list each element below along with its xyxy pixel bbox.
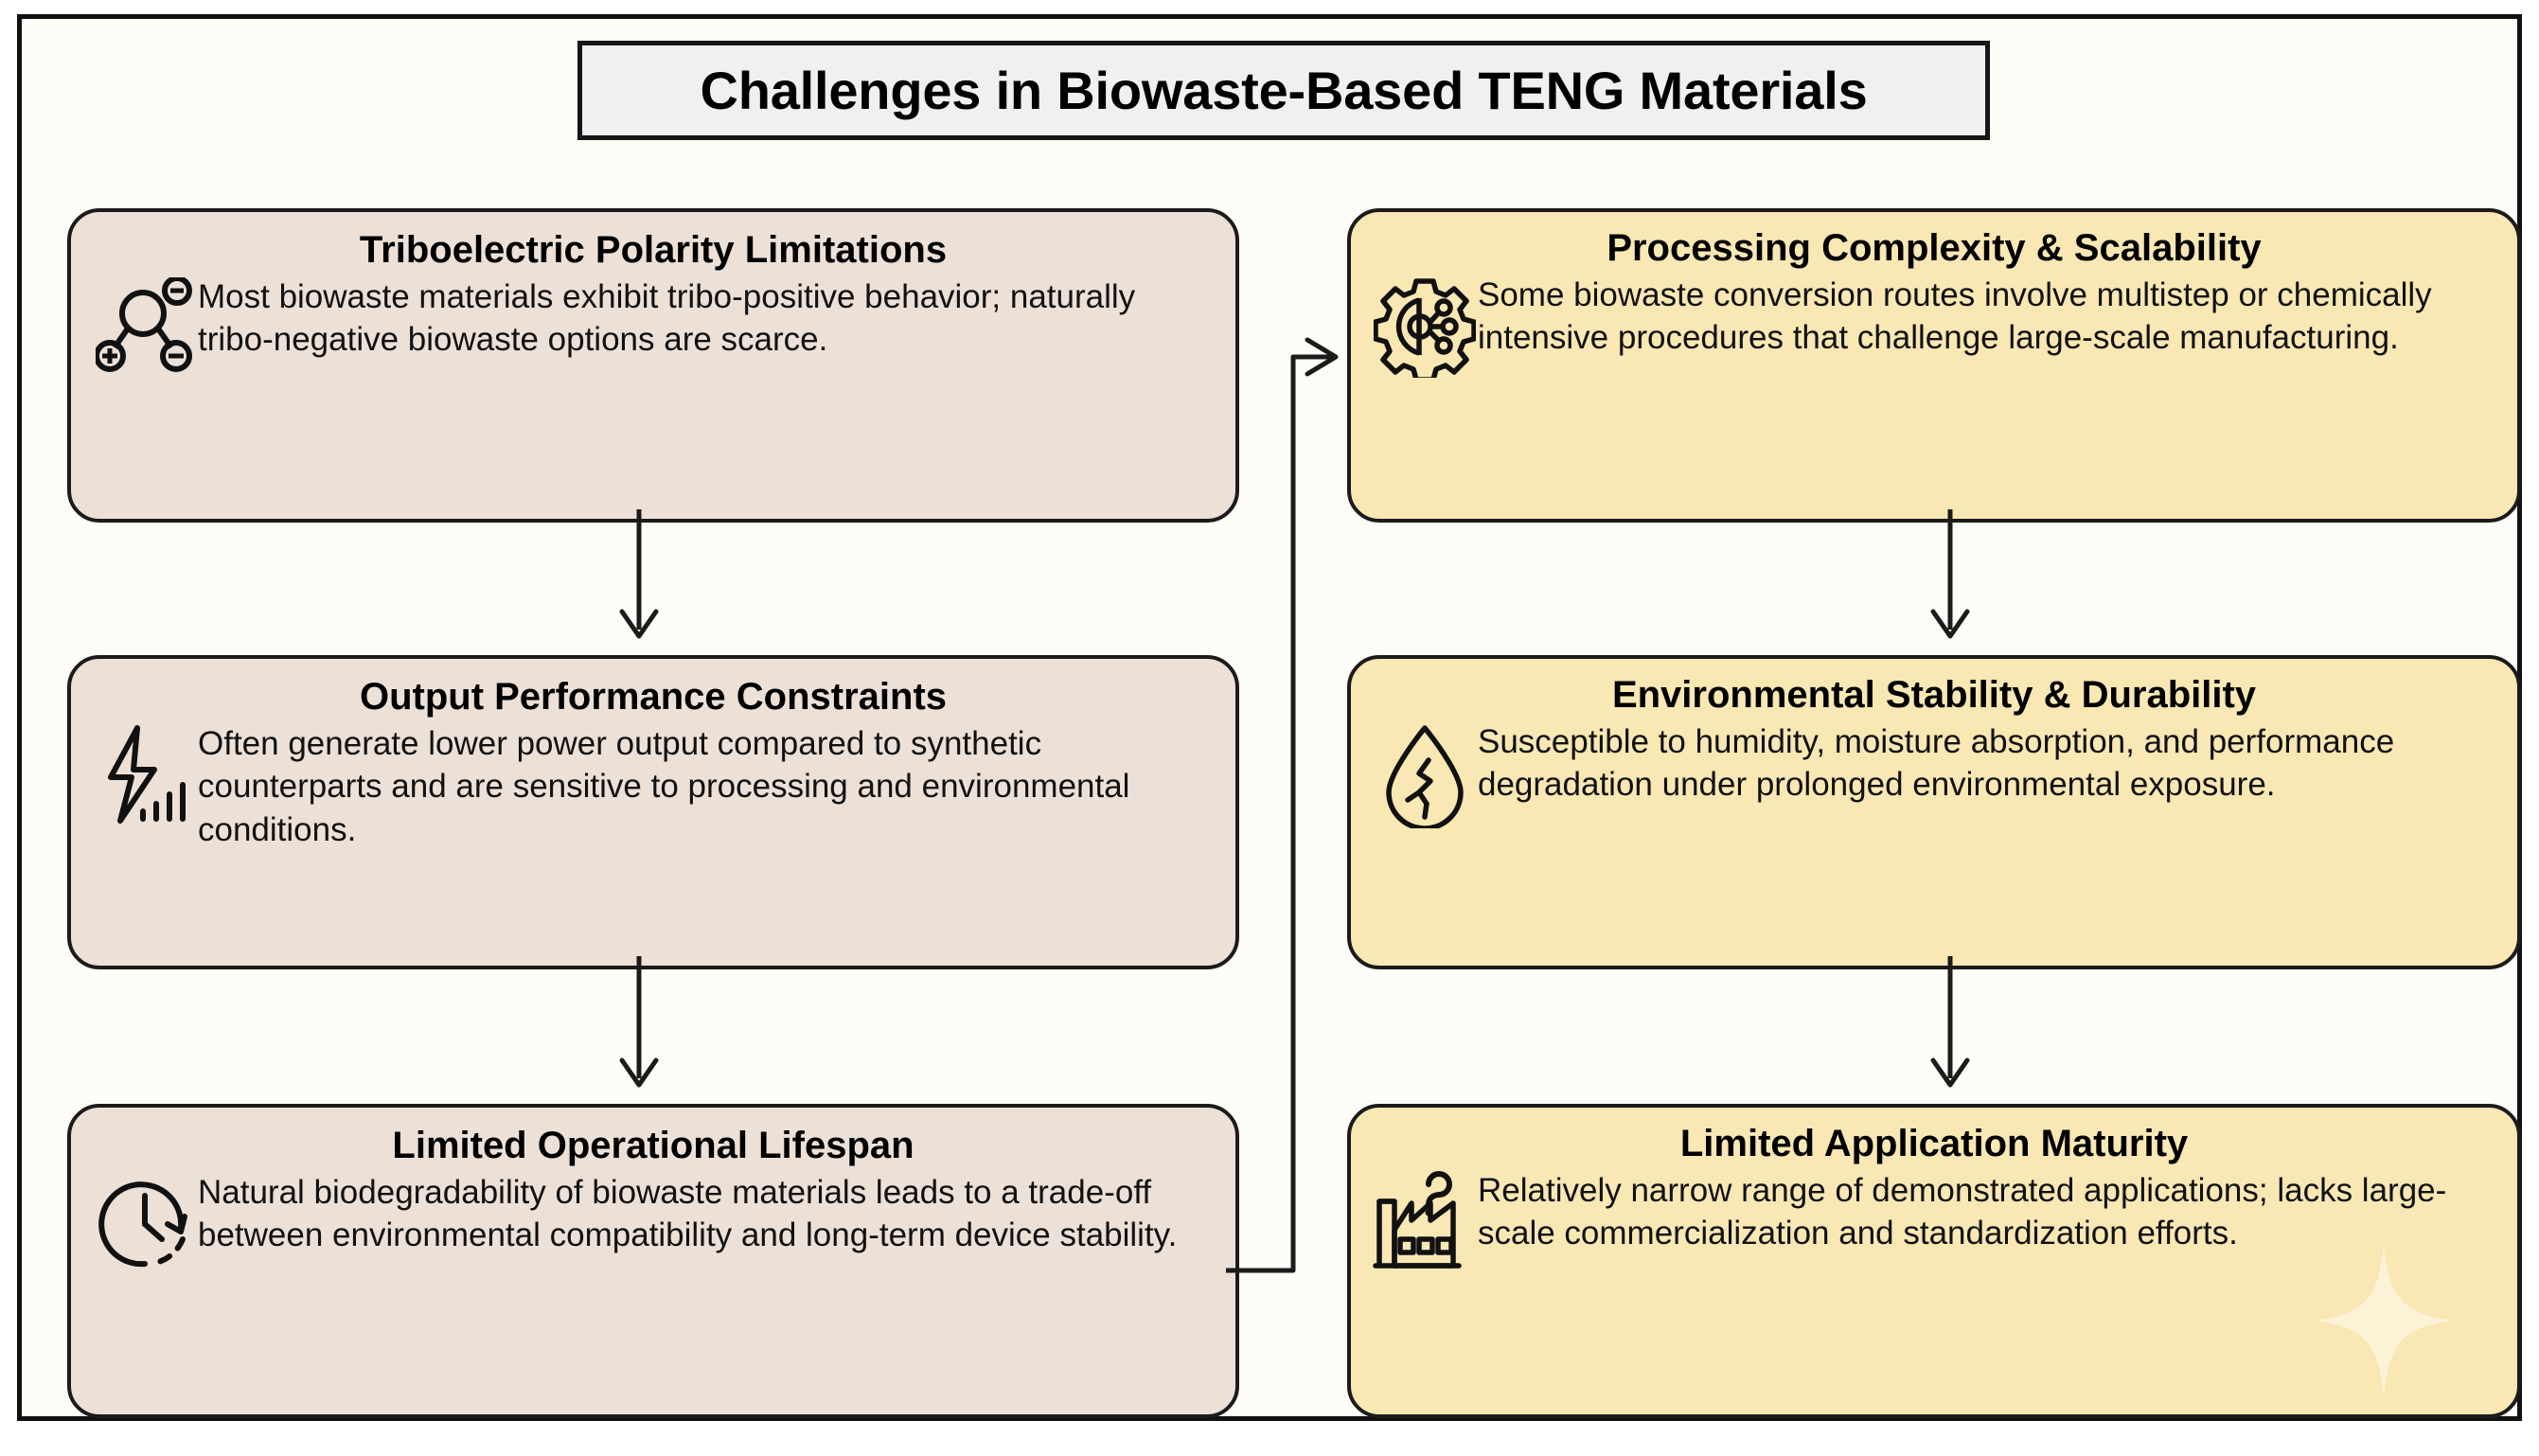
- arrow-card1-to-card2: [622, 509, 656, 636]
- card-title: Environmental Stability & Durability: [1351, 674, 2517, 717]
- card-description: Natural biodegradability of biowaste mat…: [198, 1169, 1222, 1257]
- molecule-charges-icon: [92, 274, 198, 376]
- card-title: Limited Operational Lifespan: [71, 1125, 1235, 1167]
- card-description: Most biowaste materials exhibit tribo-po…: [198, 274, 1222, 362]
- card-title: Output Performance Constraints: [71, 676, 1235, 719]
- clock-decay-icon: [92, 1169, 198, 1275]
- arrow-card3-to-card4: [1226, 340, 1336, 1270]
- diagram-frame: Challenges in Biowaste-Based TENG Materi…: [17, 14, 2522, 1421]
- sparkle-watermark: [2313, 1240, 2455, 1401]
- card-limited-operational-lifespan: Limited Operational Lifespan Natural bio…: [67, 1104, 1239, 1418]
- card-description: Susceptible to humidity, moisture absorp…: [1478, 719, 2504, 807]
- card-body: Natural biodegradability of biowaste mat…: [71, 1169, 1235, 1414]
- card-environmental-stability-durability: Environmental Stability & Durability Sus…: [1347, 655, 2521, 969]
- diagram-title-box: Challenges in Biowaste-Based TENG Materi…: [577, 41, 1990, 140]
- card-body: Often generate lower power output compar…: [71, 720, 1235, 966]
- card-body: Susceptible to humidity, moisture absorp…: [1351, 719, 2517, 966]
- arrow-card4-to-card5: [1933, 509, 1967, 636]
- card-body: Some biowaste conversion routes involve …: [1351, 272, 2517, 519]
- lightning-bars-icon: [92, 720, 198, 826]
- factory-question-icon: [1372, 1167, 1478, 1277]
- card-output-performance-constraints: Output Performance Constraints Often gen…: [67, 655, 1239, 969]
- card-title: Processing Complexity & Scalability: [1351, 227, 2517, 270]
- card-title: Limited Application Maturity: [1351, 1123, 2517, 1165]
- card-body: Most biowaste materials exhibit tribo-po…: [71, 274, 1235, 519]
- gear-network-icon: [1372, 272, 1478, 378]
- card-description: Often generate lower power output compar…: [198, 720, 1222, 852]
- card-title: Triboelectric Polarity Limitations: [71, 229, 1235, 272]
- water-droplet-crack-icon: [1372, 719, 1478, 828]
- arrow-card5-to-card6: [1933, 956, 1967, 1085]
- arrow-card2-to-card3: [622, 956, 656, 1085]
- page-title: Challenges in Biowaste-Based TENG Materi…: [700, 60, 1867, 121]
- card-triboelectric-polarity-limitations: Triboelectric Polarity Limitations M: [67, 208, 1239, 523]
- card-processing-complexity-scalability: Processing Complexity & Scalability Some…: [1347, 208, 2521, 523]
- card-description: Some biowaste conversion routes involve …: [1478, 272, 2504, 360]
